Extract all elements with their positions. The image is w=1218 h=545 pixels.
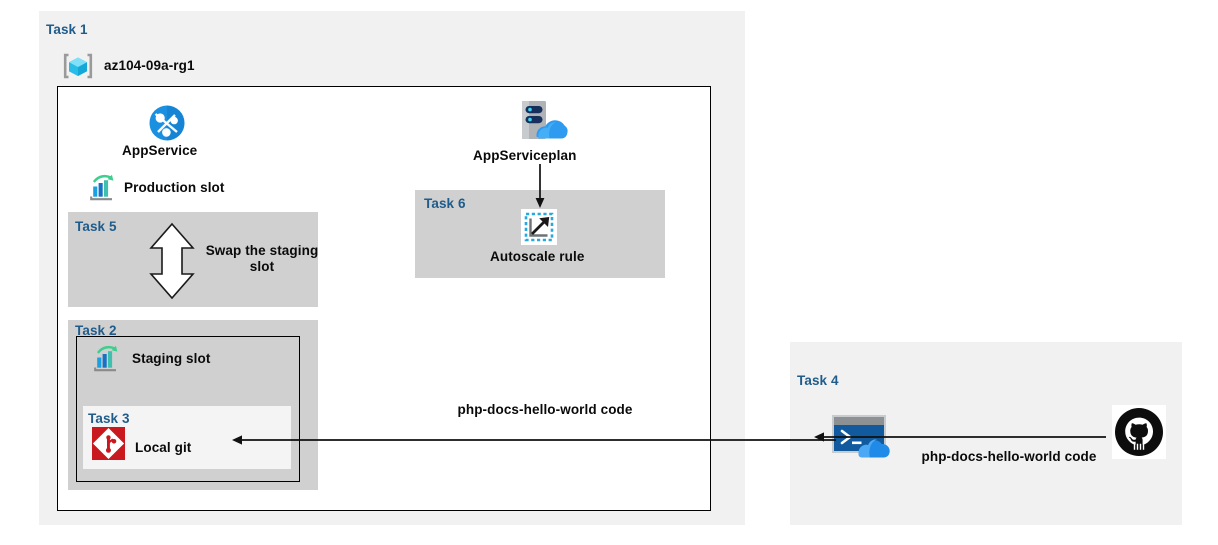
cloud-shell-icon	[831, 413, 901, 463]
task2-label: Task 2	[75, 323, 117, 338]
github-icon	[1112, 405, 1166, 459]
app-service-icon	[147, 103, 187, 143]
app-service-label: AppService	[122, 143, 197, 158]
local-git-label: Local git	[135, 440, 191, 455]
autoscale-icon	[521, 209, 557, 245]
task4-label: Task 4	[797, 373, 839, 388]
app-service-plan-label: AppServiceplan	[473, 148, 576, 163]
task3-label: Task 3	[88, 411, 130, 426]
task6-label: Task 6	[424, 196, 466, 211]
github-to-cloudshell-label: php-docs-hello-world code	[913, 449, 1105, 465]
swap-slot-label: Swap the staging slot	[204, 243, 320, 276]
diagram-canvas: Task 1 az104-09a-rg1 AppService	[0, 0, 1218, 545]
swap-double-arrow-icon	[146, 222, 198, 300]
resource-group-label: az104-09a-rg1	[104, 58, 195, 73]
cloudshell-to-localgit-label: php-docs-hello-world code	[447, 402, 643, 418]
deployment-slot-icon-staging	[92, 345, 122, 373]
deployment-slot-icon-production	[88, 174, 118, 202]
task1-label: Task 1	[46, 22, 88, 37]
app-service-plan-icon	[512, 98, 570, 146]
resource-group-icon	[62, 50, 94, 82]
autoscale-rule-label: Autoscale rule	[490, 249, 584, 264]
git-icon	[92, 427, 125, 460]
staging-slot-label: Staging slot	[132, 351, 210, 366]
task5-label: Task 5	[75, 219, 117, 234]
production-slot-label: Production slot	[124, 180, 225, 195]
